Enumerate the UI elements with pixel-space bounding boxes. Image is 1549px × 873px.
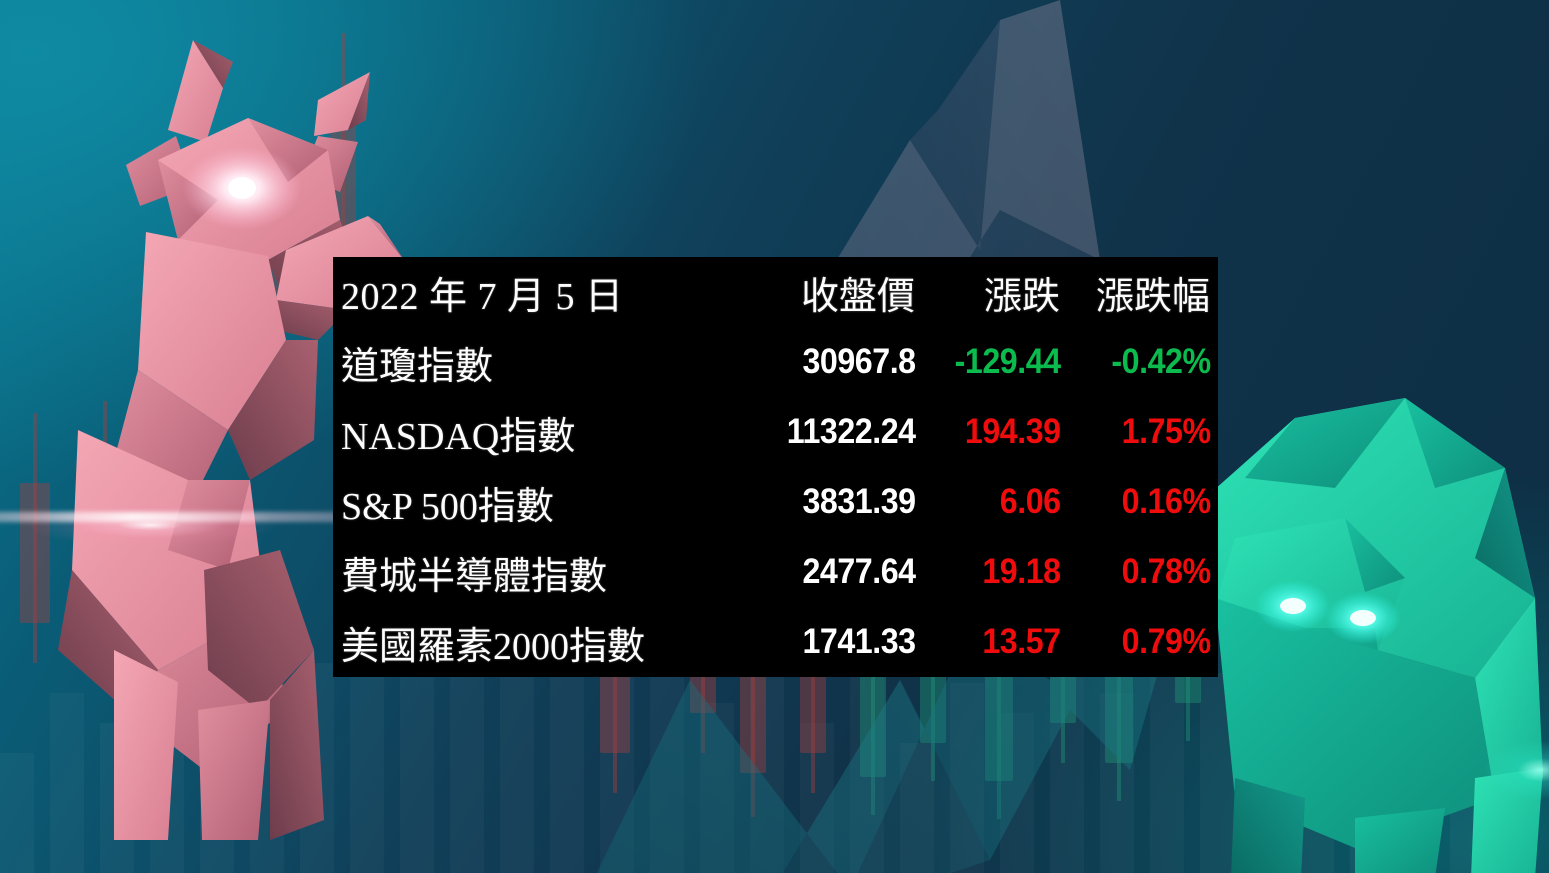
index-name: 道瓊指數 bbox=[333, 327, 733, 397]
index-name: 美國羅素2000指數 bbox=[333, 607, 733, 677]
close-price: 3831.39 bbox=[748, 467, 923, 537]
index-name: 費城半導體指數 bbox=[333, 537, 733, 607]
quote-date-label: 2022 年 7 月 5 日 bbox=[333, 257, 733, 327]
bear-paw-glow bbox=[1460, 700, 1549, 840]
change-percent: -0.42% bbox=[1080, 327, 1218, 397]
change-percent: 0.16% bbox=[1080, 467, 1218, 537]
close-price: 2477.64 bbox=[748, 537, 923, 607]
change-value: 6.06 bbox=[935, 467, 1068, 537]
market-board-screenshot: 2022 年 7 月 5 日 收盤價 漲跌 漲跌幅 道瓊指數30967.8-12… bbox=[0, 0, 1549, 873]
table-row: 美國羅素2000指數1741.3313.570.79% bbox=[333, 607, 1218, 677]
table-row: 道瓊指數30967.8-129.44-0.42% bbox=[333, 327, 1218, 397]
table-row: 費城半導體指數2477.6419.180.78% bbox=[333, 537, 1218, 607]
quote-table-body: 道瓊指數30967.8-129.44-0.42%NASDAQ指數11322.24… bbox=[333, 327, 1218, 677]
table-row: NASDAQ指數11322.24194.391.75% bbox=[333, 397, 1218, 467]
change-value: 194.39 bbox=[935, 397, 1068, 467]
close-price: 1741.33 bbox=[748, 607, 923, 677]
close-price: 30967.8 bbox=[748, 327, 923, 397]
table-header-row: 2022 年 7 月 5 日 收盤價 漲跌 漲跌幅 bbox=[333, 257, 1218, 327]
close-price: 11322.24 bbox=[748, 397, 923, 467]
change-value: -129.44 bbox=[935, 327, 1068, 397]
change-value: 13.57 bbox=[935, 607, 1068, 677]
index-name: S&P 500指數 bbox=[333, 467, 733, 537]
change-percent: 0.79% bbox=[1080, 607, 1218, 677]
index-quote-panel: 2022 年 7 月 5 日 收盤價 漲跌 漲跌幅 道瓊指數30967.8-12… bbox=[333, 257, 1218, 677]
header-change: 漲跌 bbox=[923, 257, 1068, 327]
table-row: S&P 500指數3831.396.060.16% bbox=[333, 467, 1218, 537]
header-change-percent: 漲跌幅 bbox=[1068, 257, 1218, 327]
change-percent: 0.78% bbox=[1080, 537, 1218, 607]
change-percent: 1.75% bbox=[1080, 397, 1218, 467]
header-close-price: 收盤價 bbox=[733, 257, 923, 327]
index-quote-table: 2022 年 7 月 5 日 收盤價 漲跌 漲跌幅 道瓊指數30967.8-12… bbox=[333, 257, 1218, 677]
change-value: 19.18 bbox=[935, 537, 1068, 607]
index-name: NASDAQ指數 bbox=[333, 397, 733, 467]
